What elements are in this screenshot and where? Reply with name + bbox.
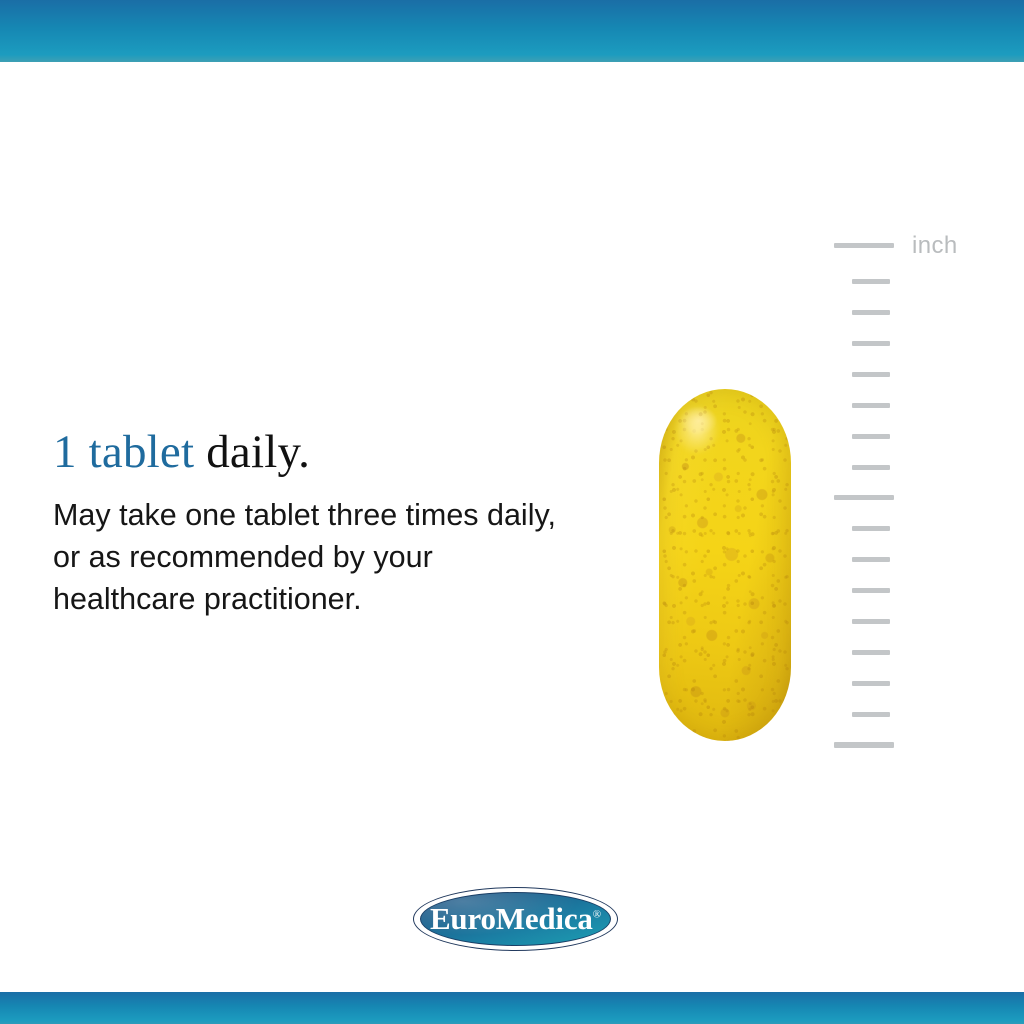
ruler-tick-major-0: [834, 243, 894, 248]
top-banner: [0, 0, 1024, 62]
ruler-tick-minor-6: [852, 434, 890, 439]
ruler-tick-major-1: [834, 495, 894, 500]
ruler-tick-minor-2: [852, 310, 890, 315]
ruler-tick-minor-14: [852, 712, 890, 717]
euromedica-logo: EuroMedica®: [413, 887, 618, 951]
tablet-speckle-texture: [659, 389, 791, 741]
ruler-tick-minor-3: [852, 341, 890, 346]
logo-oval-fill: EuroMedica®: [420, 892, 611, 946]
dosage-copy-block: 1 tablet daily. May take one tablet thre…: [53, 428, 613, 620]
headline-rest: daily.: [194, 426, 310, 478]
ruler-tick-minor-12: [852, 650, 890, 655]
headline-accent: 1 tablet: [53, 426, 194, 478]
ruler-tick-minor-9: [852, 557, 890, 562]
ruler-tick-major-2: [834, 742, 894, 748]
ruler-tick-minor-13: [852, 681, 890, 686]
ruler-tick-minor-10: [852, 588, 890, 593]
bottom-banner: [0, 992, 1024, 1024]
ruler-tick-minor-7: [852, 465, 890, 470]
ruler-tick-minor-8: [852, 526, 890, 531]
ruler-tick-minor-5: [852, 403, 890, 408]
registered-trademark-icon: ®: [593, 908, 601, 920]
tablet-image: [659, 389, 791, 741]
page-title: 1 tablet daily.: [53, 428, 613, 478]
ruler-tick-minor-4: [852, 372, 890, 377]
logo-brand-text: EuroMedica: [430, 901, 593, 936]
dosage-description: May take one tablet three times daily, o…: [53, 494, 573, 620]
ruler-unit-label: inch: [912, 232, 958, 260]
product-info-panel: 1 tablet daily. May take one tablet thre…: [0, 0, 1024, 1024]
tablet-highlight: [677, 407, 717, 453]
ruler-tick-minor-11: [852, 619, 890, 624]
tablet-body: [659, 389, 791, 741]
logo-wordmark: EuroMedica®: [430, 903, 601, 934]
inch-ruler: inch: [834, 243, 1004, 763]
ruler-tick-minor-1: [852, 279, 890, 284]
